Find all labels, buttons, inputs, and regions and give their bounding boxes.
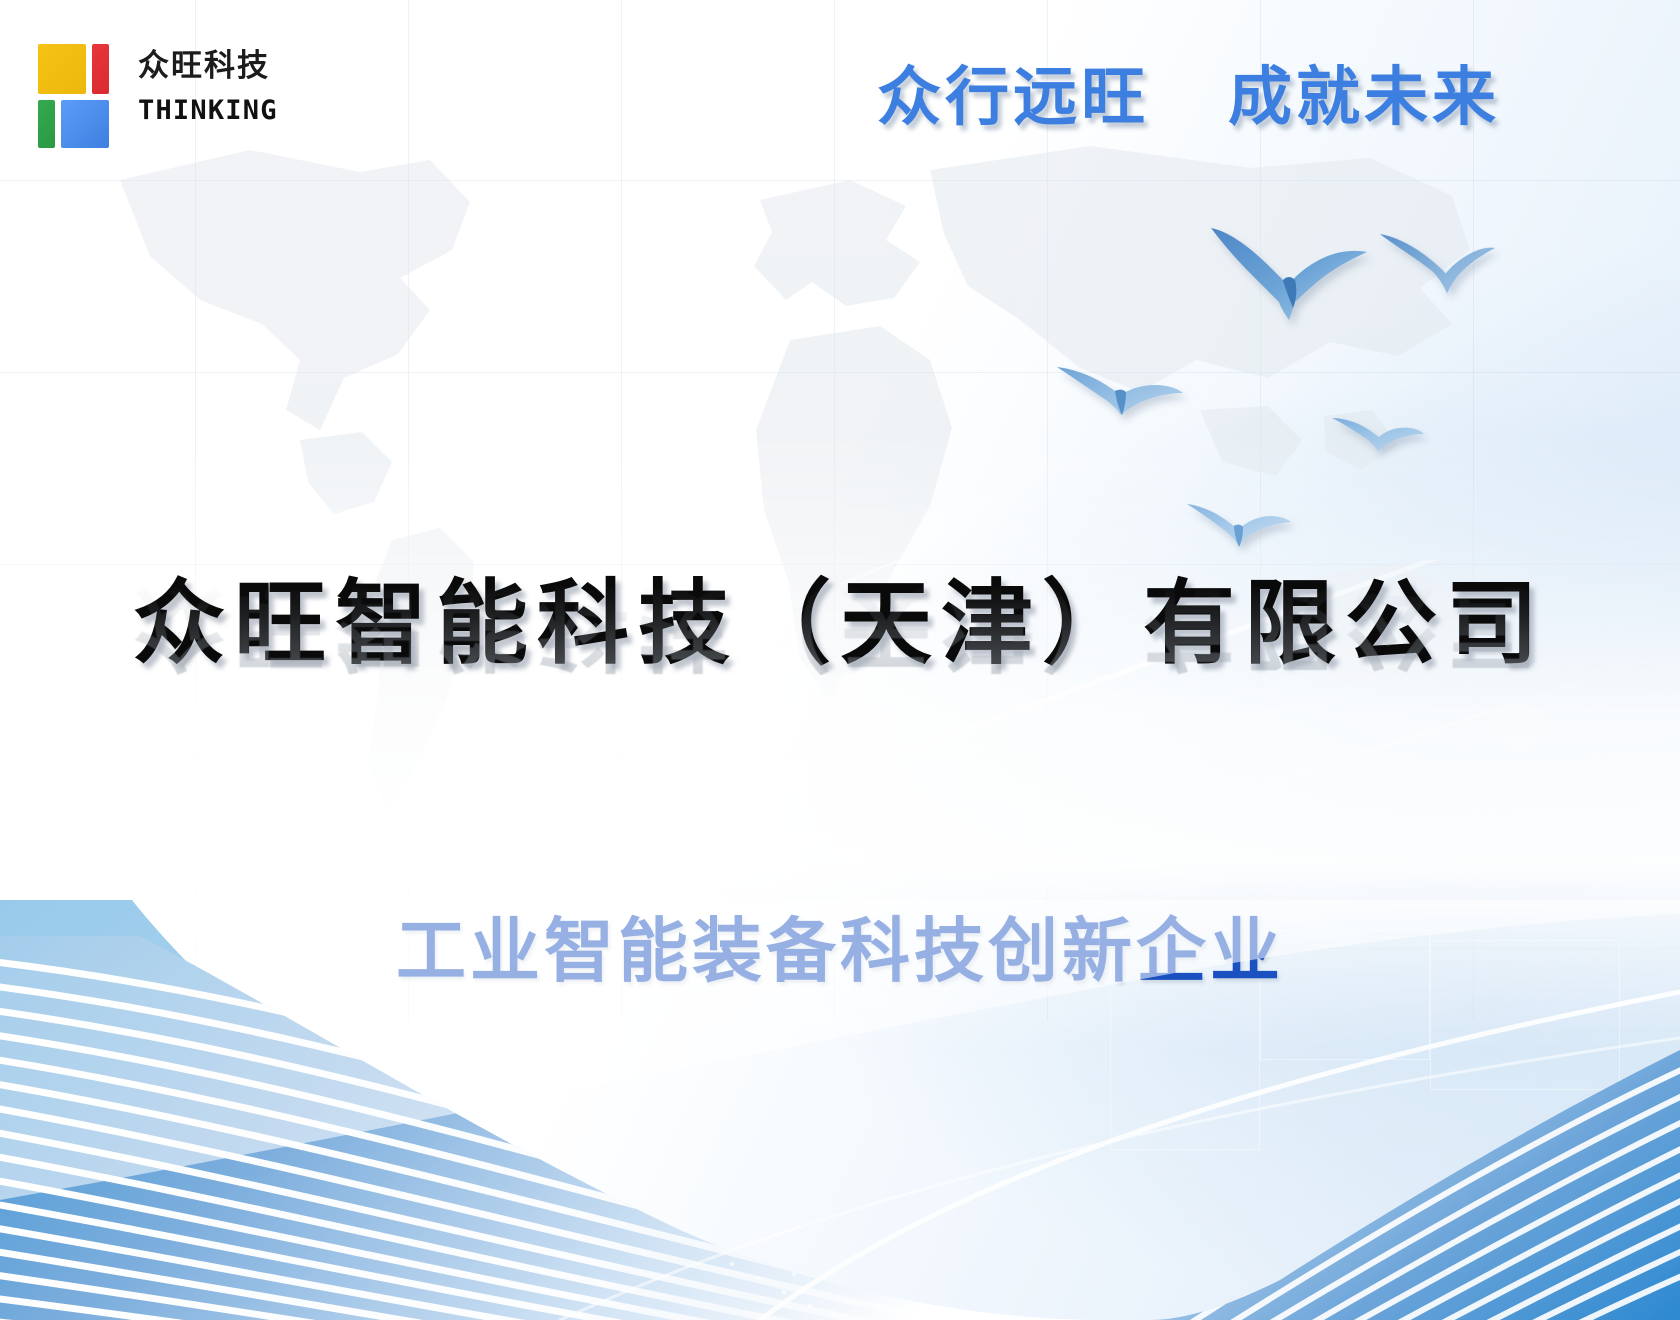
header-slogan: 众行远旺 成就未来	[877, 46, 1500, 138]
logo-block-blue-icon	[61, 100, 109, 148]
logo-block-red-icon	[92, 44, 109, 94]
company-logo: 众旺科技 THINKING	[28, 30, 278, 146]
logo-company-name-en: THINKING	[138, 95, 278, 126]
world-map-watermark	[0, 110, 1680, 900]
logo-block-green-icon	[38, 100, 55, 148]
logo-wordmark: 众旺科技 THINKING	[138, 33, 278, 143]
slide-title-reflection: 众旺智能科技（天津）有限公司	[0, 577, 1680, 675]
logo-block-yellow-icon	[38, 44, 86, 94]
title-block: 众旺智能科技（天津）有限公司 众旺智能科技（天津）有限公司	[0, 575, 1680, 772]
logo-company-name-cn: 众旺科技	[138, 50, 278, 83]
presentation-slide: 众旺科技 THINKING 众行远旺 成就未来	[0, 0, 1680, 1320]
logo-blocks	[28, 30, 114, 146]
slide-subtitle: 工业智能装备科技创新企业	[0, 895, 1680, 996]
